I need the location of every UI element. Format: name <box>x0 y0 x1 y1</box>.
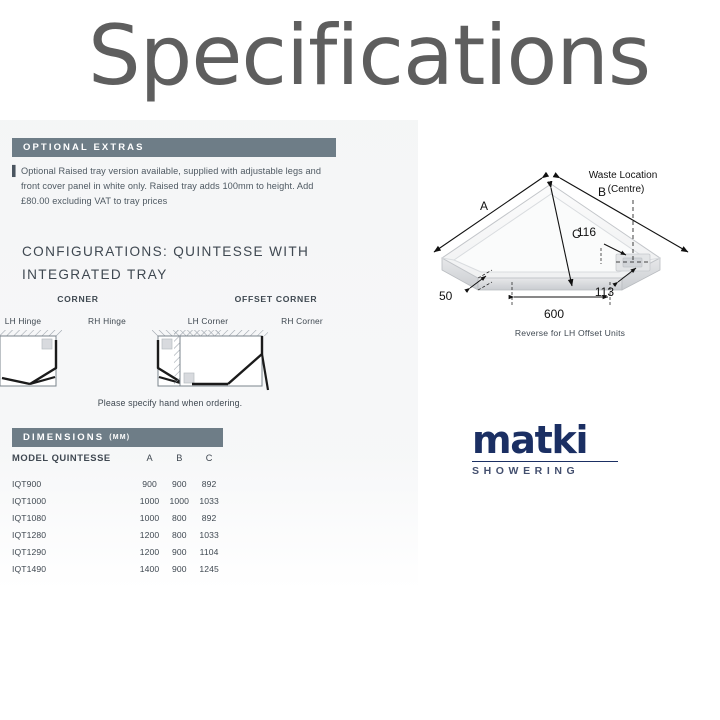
table-header-row: MODEL QUINTESSE A B C <box>12 452 224 475</box>
cell-model: IQT1080 <box>12 509 135 526</box>
dimension-116-label: 116 <box>577 225 596 239</box>
dimension-a-label: A <box>480 199 488 213</box>
configurations-heading-line2: INTEGRATED TRAY <box>22 263 352 286</box>
column-header-model: MODEL QUINTESSE <box>12 452 135 475</box>
page-title: Specifications <box>88 14 650 97</box>
matki-logo-tagline: SHOWERING <box>472 465 622 477</box>
optional-extras-text: Optional Raised tray version available, … <box>21 164 342 210</box>
configuration-diagrams <box>0 328 360 394</box>
column-header-a: A <box>135 452 165 475</box>
cell-b: 800 <box>164 526 194 543</box>
cell-a: 900 <box>135 475 165 492</box>
optional-extras-heading-label: OPTIONAL EXTRAS <box>23 142 145 153</box>
cell-c: 1104 <box>194 543 224 560</box>
matki-logo: matki SHOWERING <box>472 420 622 482</box>
cell-model: IQT1280 <box>12 526 135 543</box>
optional-extras-header-bar: OPTIONAL EXTRAS <box>12 138 336 157</box>
dimensions-unit-label: (MM) <box>109 434 130 441</box>
configuration-note: Please specify hand when ordering. <box>40 398 300 408</box>
dimension-b-label: B <box>598 185 606 199</box>
cell-model: IQT1290 <box>12 543 135 560</box>
config-group-label-corner: CORNER <box>8 294 148 304</box>
column-header-b: B <box>164 452 194 475</box>
config-label-rh-corner: RH Corner <box>252 316 352 326</box>
diagram-lh-hinge <box>0 330 62 386</box>
config-label-rh-hinge: RH Hinge <box>62 316 152 326</box>
bullet-icon: ▌ <box>12 164 21 210</box>
cell-c: 1033 <box>194 492 224 509</box>
cell-a: 1000 <box>135 492 165 509</box>
cell-c: 1033 <box>194 526 224 543</box>
dimensions-header-bar: DIMENSIONS (MM) <box>12 428 223 447</box>
table-row: IQT1290 1200 900 1104 <box>12 543 224 560</box>
cell-a: 1200 <box>135 543 165 560</box>
configurations-heading: CONFIGURATIONS: QUINTESSE WITH INTEGRATE… <box>22 240 352 286</box>
waste-location-label-line2: (Centre) <box>608 184 645 195</box>
cell-c: 892 <box>194 509 224 526</box>
cell-model: IQT1490 <box>12 560 135 577</box>
cell-model: IQT900 <box>12 475 135 492</box>
cell-b: 1000 <box>164 492 194 509</box>
tray-drawing-caption: Reverse for LH Offset Units <box>450 328 690 338</box>
cell-a: 1200 <box>135 526 165 543</box>
dimensions-heading-label: DIMENSIONS <box>23 432 104 443</box>
table-row: IQT900 900 900 892 <box>12 475 224 492</box>
cell-c: 1245 <box>194 560 224 577</box>
matki-logo-wordmark: matki <box>472 420 622 460</box>
diagram-lh-offset-corner <box>174 330 268 390</box>
configurations-heading-line1: CONFIGURATIONS: QUINTESSE WITH <box>22 240 352 263</box>
table-row: IQT1280 1200 800 1033 <box>12 526 224 543</box>
config-label-lh-hinge: LH Hinge <box>0 316 68 326</box>
cell-b: 900 <box>164 475 194 492</box>
optional-extras-body: ▌ Optional Raised tray version available… <box>12 164 342 210</box>
config-label-lh-corner: LH Corner <box>158 316 258 326</box>
dimension-600-label: 600 <box>544 307 564 321</box>
configuration-diagrams-svg <box>0 328 360 394</box>
config-group-label-offset-corner: OFFSET CORNER <box>196 294 356 304</box>
dimensions-table: MODEL QUINTESSE A B C IQT900 900 900 892… <box>12 452 224 577</box>
cell-a: 1000 <box>135 509 165 526</box>
cell-b: 900 <box>164 560 194 577</box>
cell-c: 892 <box>194 475 224 492</box>
cell-a: 1400 <box>135 560 165 577</box>
cell-b: 900 <box>164 543 194 560</box>
table-row: IQT1080 1000 800 892 <box>12 509 224 526</box>
table-row: IQT1000 1000 1000 1033 <box>12 492 224 509</box>
dimension-50-label: 50 <box>439 289 453 303</box>
specifications-page: Specifications OPTIONAL EXTRAS ▌ Optiona… <box>0 0 720 720</box>
waste-location-label-line1: Waste Location <box>589 170 658 181</box>
cell-model: IQT1000 <box>12 492 135 509</box>
column-header-c: C <box>194 452 224 475</box>
tray-body <box>442 184 660 290</box>
table-row: IQT1490 1400 900 1245 <box>12 560 224 577</box>
dimension-113-label: 113 <box>595 285 614 299</box>
cell-b: 800 <box>164 509 194 526</box>
